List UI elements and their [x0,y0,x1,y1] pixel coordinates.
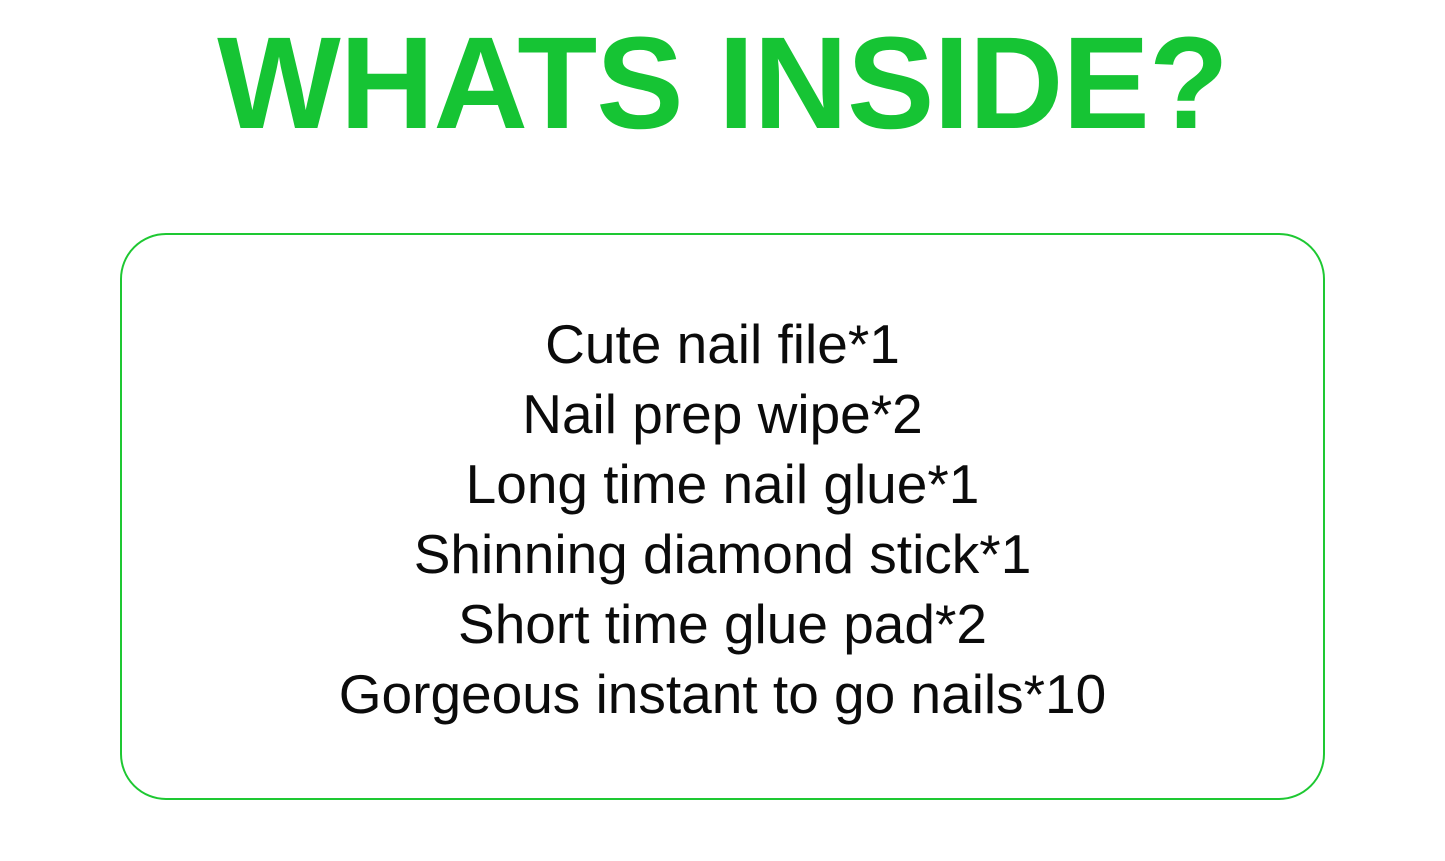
contents-list: Cute nail file*1 Nail prep wipe*2 Long t… [122,235,1323,798]
page-title: WHATS INSIDE? [0,8,1445,158]
contents-box: Cute nail file*1 Nail prep wipe*2 Long t… [120,233,1325,800]
list-item: Shinning diamond stick*1 [414,519,1032,589]
list-item: Short time glue pad*2 [458,589,987,659]
poster-canvas: WHATS INSIDE? Cute nail file*1 Nail prep… [0,0,1445,861]
list-item: Gorgeous instant to go nails*10 [339,659,1106,729]
list-item: Nail prep wipe*2 [522,379,923,449]
list-item: Cute nail file*1 [545,309,900,379]
list-item: Long time nail glue*1 [466,449,980,519]
